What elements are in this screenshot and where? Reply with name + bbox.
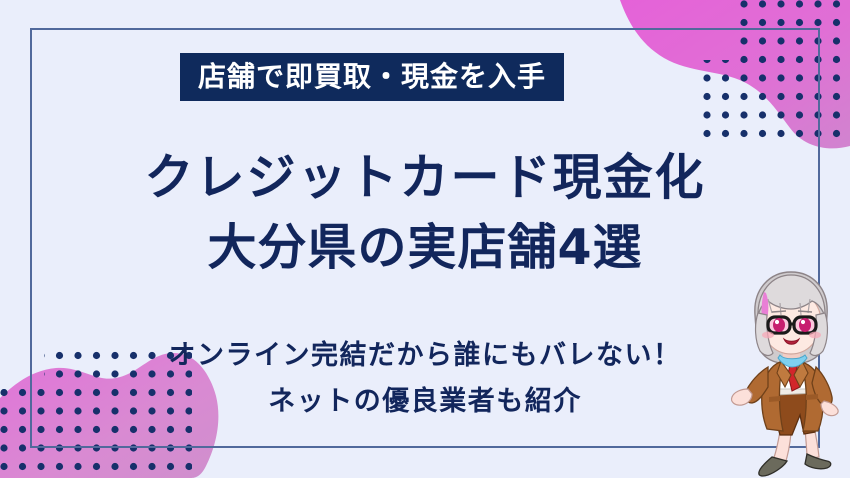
eye-right <box>799 318 811 332</box>
eyebrow-right <box>798 311 812 312</box>
eyebrow-left <box>772 311 786 312</box>
blob-top-right <box>620 0 850 148</box>
eyebrow-badge: 店舗で即買取・現金を入手 <box>180 53 564 101</box>
dot-grid-top-right <box>703 0 850 138</box>
title-line-2: 大分県の実店舗4選 <box>0 213 850 283</box>
subtitle-line-2: ネットの優良業者も紹介 <box>0 379 850 425</box>
title-line-1: クレジットカード現金化 <box>0 143 850 213</box>
subtitle-line-1: オンライン完結だから誰にもバレない！ <box>0 333 850 379</box>
shoe-left <box>759 457 787 476</box>
eye-left <box>773 318 785 332</box>
jacket-pocket-right <box>806 394 818 400</box>
blush-left <box>762 332 774 339</box>
jacket-pocket-left <box>769 396 780 402</box>
page-subtitle: オンライン完結だから誰にもバレない！ ネットの優良業者も紹介 <box>0 333 850 425</box>
hand-right <box>821 401 838 416</box>
page-title: クレジットカード現金化 大分県の実店舗4選 <box>0 143 850 283</box>
badge-label: 店舗で即買取・現金を入手 <box>198 63 546 91</box>
mascot-body-group <box>732 272 839 476</box>
poster-canvas: 店舗で即買取・現金を入手 クレジットカード現金化 大分県の実店舗4選 オンライン… <box>0 0 850 478</box>
blush-right <box>809 332 821 339</box>
mascot-girl-illustration <box>728 263 848 478</box>
